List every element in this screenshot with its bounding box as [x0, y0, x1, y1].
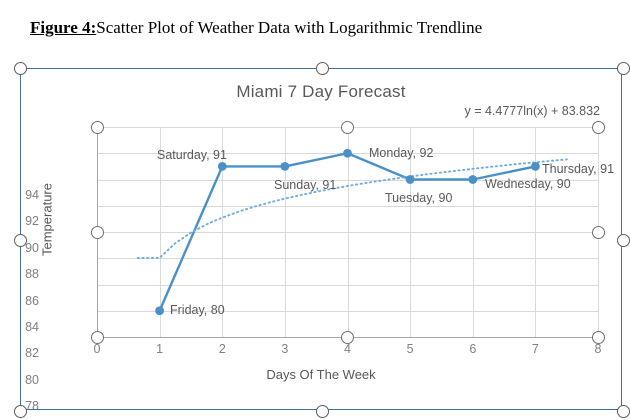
selection-handle-top-left[interactable] [14, 62, 27, 75]
selection-handle-middle-left[interactable] [14, 234, 27, 247]
selection-handle-bottom-right[interactable] [617, 405, 630, 418]
selection-handle-middle-right[interactable] [617, 234, 630, 247]
figure-caption: Figure 4:Scatter Plot of Weather Data wi… [30, 18, 482, 38]
selection-handle-top-center[interactable] [316, 62, 329, 75]
selection-handle-top-right[interactable] [617, 62, 630, 75]
selection-handle-bottom-center[interactable] [316, 405, 329, 418]
figure-caption-text: Scatter Plot of Weather Data with Logari… [96, 18, 482, 37]
figure-number: Figure 4: [30, 18, 96, 37]
object-selection-frame[interactable] [20, 68, 622, 410]
selection-handle-bottom-left[interactable] [14, 405, 27, 418]
